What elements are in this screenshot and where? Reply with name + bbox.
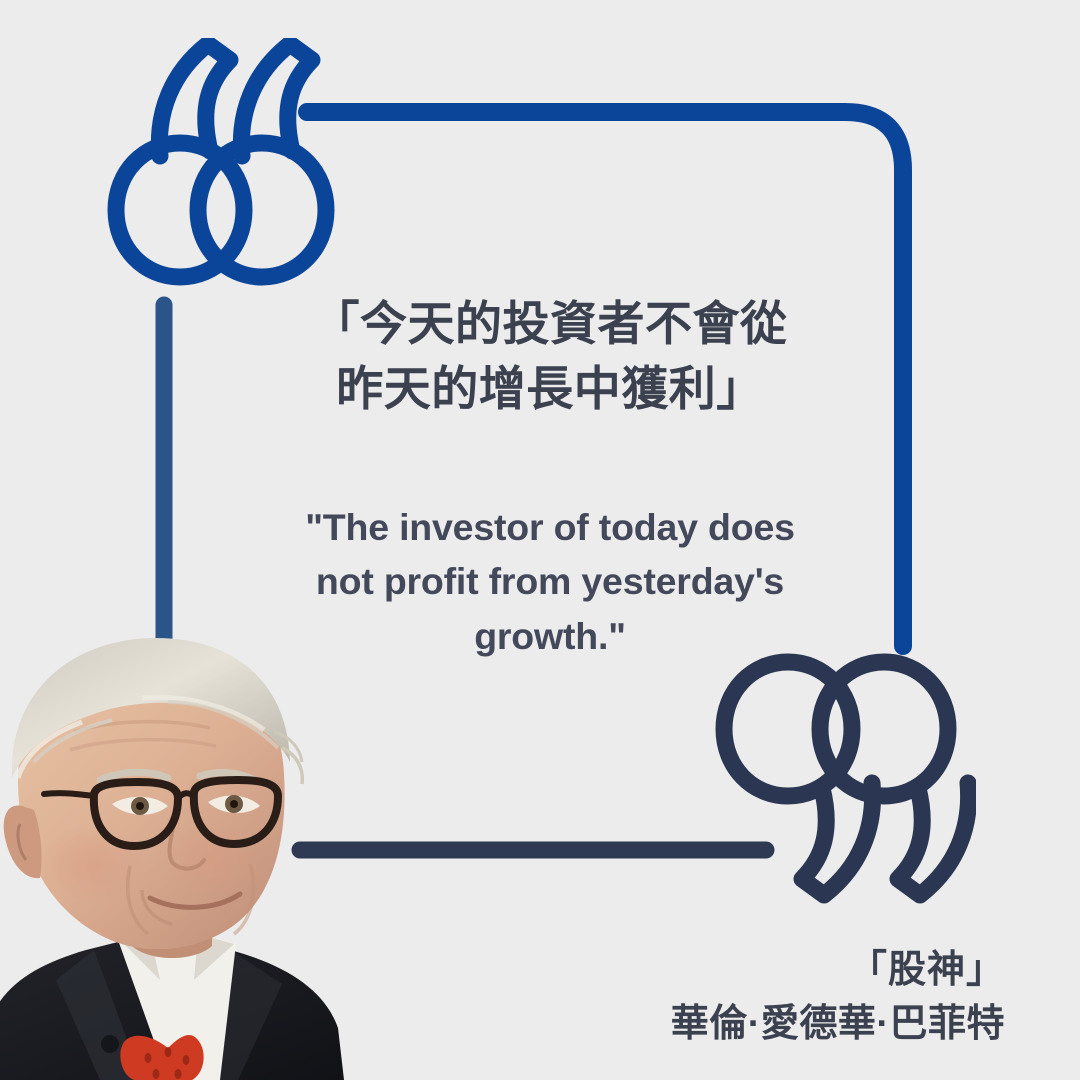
portrait-microphone <box>101 1035 119 1053</box>
attribution: 「股神」 華倫·愛德華·巴菲特 <box>671 944 1005 1052</box>
warren-buffett-portrait <box>0 628 382 1080</box>
close-quote-icon <box>704 648 976 906</box>
quote-card: 「今天的投資者不會從 昨天的增長中獲利」 "The investor of to… <box>0 0 1080 1080</box>
open-quote-icon <box>104 38 336 304</box>
attribution-title: 「股神」 <box>671 944 1005 998</box>
quote-chinese-text: 「今天的投資者不會從 昨天的增長中獲利」 <box>250 292 850 422</box>
attribution-name: 華倫·愛德華·巴菲特 <box>671 998 1005 1052</box>
